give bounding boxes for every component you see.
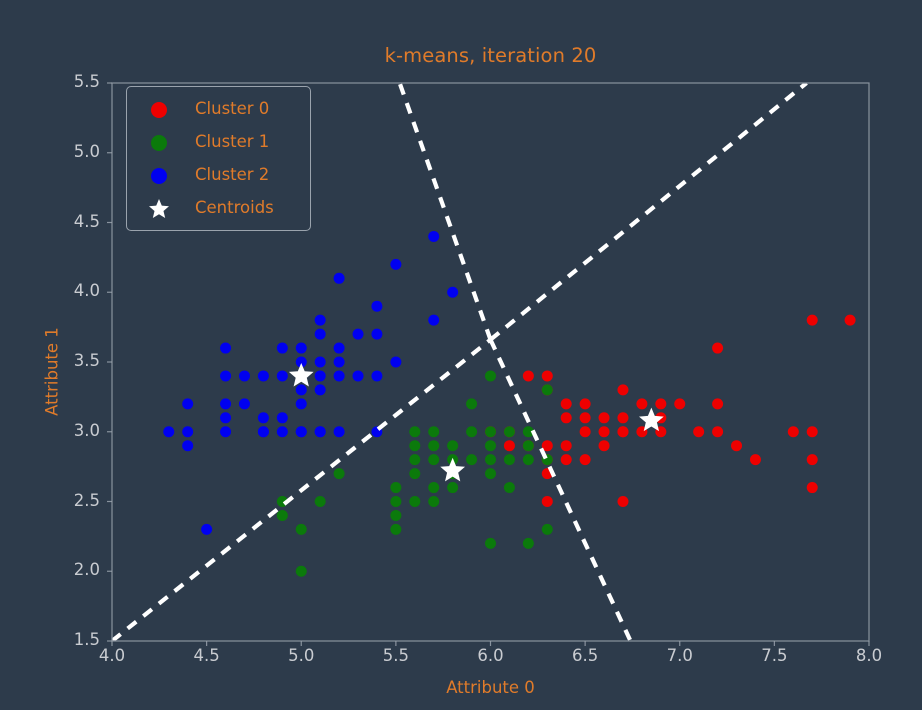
x-tick-label: 6.0 [461, 646, 521, 665]
legend-dot-icon [151, 168, 167, 184]
legend-label: Cluster 2 [195, 165, 269, 184]
scatter-point [296, 343, 307, 354]
scatter-point [617, 384, 628, 395]
y-tick-label: 2.0 [48, 560, 100, 579]
scatter-point [485, 538, 496, 549]
legend-dot-icon [151, 135, 167, 151]
scatter-point [296, 524, 307, 535]
legend-star-icon [151, 201, 167, 217]
scatter-point [201, 524, 212, 535]
x-tick-label: 4.5 [177, 646, 237, 665]
scatter-point [277, 343, 288, 354]
scatter-point [277, 370, 288, 381]
scatter-point [315, 370, 326, 381]
scatter-point [845, 315, 856, 326]
y-tick-label: 1.5 [48, 630, 100, 649]
scatter-point [258, 370, 269, 381]
scatter-point [674, 398, 685, 409]
scatter-point [239, 370, 250, 381]
scatter-point [390, 510, 401, 521]
scatter-point [485, 426, 496, 437]
scatter-point [807, 482, 818, 493]
centroid-markers [289, 363, 664, 481]
scatter-point [807, 426, 818, 437]
scatter-point [220, 398, 231, 409]
legend-entry: Centroids [127, 192, 312, 226]
scatter-point [296, 384, 307, 395]
scatter-point [334, 357, 345, 368]
scatter-point [353, 370, 364, 381]
scatter-point [334, 343, 345, 354]
y-tick-label: 4.0 [48, 281, 100, 300]
scatter-point [428, 231, 439, 242]
scatter-point [750, 454, 761, 465]
scatter-point [296, 398, 307, 409]
scatter-point [315, 329, 326, 340]
x-tick-label: 5.5 [366, 646, 426, 665]
scatter-point [258, 426, 269, 437]
scatter-point [466, 454, 477, 465]
x-tick-label: 6.5 [555, 646, 615, 665]
legend-label: Centroids [195, 198, 274, 217]
scatter-point [428, 315, 439, 326]
scatter-point [523, 538, 534, 549]
scatter-point [409, 454, 420, 465]
scatter-point [428, 496, 439, 507]
scatter-point [580, 398, 591, 409]
y-tick-label: 5.0 [48, 142, 100, 161]
scatter-point [580, 412, 591, 423]
scatter-point [485, 468, 496, 479]
x-axis-label: Attribute 0 [112, 678, 869, 697]
y-tick-label: 4.5 [48, 212, 100, 231]
scatter-point [561, 412, 572, 423]
y-tick-label: 3.5 [48, 351, 100, 370]
scatter-point [258, 412, 269, 423]
scatter-point [636, 398, 647, 409]
scatter-point [542, 384, 553, 395]
scatter-point [712, 398, 723, 409]
scatter-point [428, 482, 439, 493]
scatter-point [220, 426, 231, 437]
y-tick-label: 3.0 [48, 421, 100, 440]
scatter-point [390, 259, 401, 270]
scatter-point [371, 370, 382, 381]
x-tick-label: 5.0 [271, 646, 331, 665]
scatter-point [617, 496, 628, 507]
scatter-point [599, 440, 610, 451]
scatter-point [523, 370, 534, 381]
scatter-point [788, 426, 799, 437]
legend-dot [151, 135, 167, 151]
scatter-point [712, 343, 723, 354]
scatter-point [617, 412, 628, 423]
scatter-point [220, 370, 231, 381]
scatter-point [390, 482, 401, 493]
scatter-point [390, 496, 401, 507]
y-tick-label: 5.5 [48, 72, 100, 91]
scatter-point [334, 370, 345, 381]
scatter-point [371, 301, 382, 312]
scatter-point [409, 440, 420, 451]
scatter-point [485, 370, 496, 381]
scatter-point [277, 510, 288, 521]
decision-boundary-line [400, 83, 491, 340]
scatter-point [315, 315, 326, 326]
scatter-point [277, 412, 288, 423]
scatter-point [731, 440, 742, 451]
scatter-point [807, 454, 818, 465]
legend-label: Cluster 1 [195, 132, 269, 151]
scatter-point [466, 398, 477, 409]
legend-dot [151, 168, 167, 184]
scatter-point [485, 454, 496, 465]
scatter-point [504, 454, 515, 465]
scatter-point [296, 426, 307, 437]
scatter-point [390, 357, 401, 368]
scatter-point [409, 496, 420, 507]
scatter-point [353, 329, 364, 340]
legend-entry: Cluster 2 [127, 159, 312, 193]
scatter-point [315, 426, 326, 437]
legend-entry: Cluster 1 [127, 126, 312, 160]
scatter-point [315, 384, 326, 395]
scatter-point [163, 426, 174, 437]
legend-dot-icon [151, 102, 167, 118]
scatter-point [428, 454, 439, 465]
scatter-point [182, 440, 193, 451]
legend-entry: Cluster 0 [127, 93, 312, 127]
scatter-point [182, 426, 193, 437]
scatter-point [447, 440, 458, 451]
scatter-point [428, 440, 439, 451]
scatter-point [334, 273, 345, 284]
scatter-point [599, 426, 610, 437]
scatter-point [315, 357, 326, 368]
scatter-point [580, 454, 591, 465]
scatter-point [542, 496, 553, 507]
scatter-point [504, 482, 515, 493]
scatter-point [523, 440, 534, 451]
scatter-point [447, 287, 458, 298]
scatter-point [409, 468, 420, 479]
x-tick-label: 7.5 [744, 646, 804, 665]
scatter-point [277, 426, 288, 437]
scatter-point [485, 440, 496, 451]
scatter-point [428, 426, 439, 437]
scatter-point [504, 426, 515, 437]
scatter-point [504, 440, 515, 451]
legend-dot [151, 102, 167, 118]
scatter-point [466, 426, 477, 437]
scatter-point [409, 426, 420, 437]
scatter-series-2 [163, 231, 458, 535]
scatter-point [334, 468, 345, 479]
figure-canvas: k-means, iteration 20 Attribute 0 Attrib… [0, 0, 922, 710]
scatter-point [220, 343, 231, 354]
scatter-point [523, 454, 534, 465]
scatter-point [561, 440, 572, 451]
scatter-point [655, 398, 666, 409]
scatter-point [315, 496, 326, 507]
scatter-point [712, 426, 723, 437]
scatter-point [334, 426, 345, 437]
scatter-series-0 [485, 315, 856, 507]
y-tick-label: 2.5 [48, 491, 100, 510]
scatter-point [561, 398, 572, 409]
scatter-point [542, 370, 553, 381]
scatter-point [542, 524, 553, 535]
scatter-point [599, 412, 610, 423]
scatter-point [447, 482, 458, 493]
scatter-point [239, 398, 250, 409]
legend-label: Cluster 0 [195, 99, 269, 118]
scatter-point [580, 426, 591, 437]
legend: Cluster 0Cluster 1Cluster 2Centroids [126, 86, 311, 231]
scatter-point [561, 454, 572, 465]
scatter-point [617, 426, 628, 437]
decision-boundary-line [491, 83, 807, 340]
scatter-point [371, 329, 382, 340]
centroid-star-icon [289, 363, 314, 387]
scatter-point [220, 412, 231, 423]
scatter-point [296, 566, 307, 577]
x-tick-label: 7.0 [650, 646, 710, 665]
scatter-point [390, 524, 401, 535]
scatter-point [693, 426, 704, 437]
x-tick-label: 8.0 [839, 646, 899, 665]
scatter-point [807, 315, 818, 326]
scatter-point [182, 398, 193, 409]
